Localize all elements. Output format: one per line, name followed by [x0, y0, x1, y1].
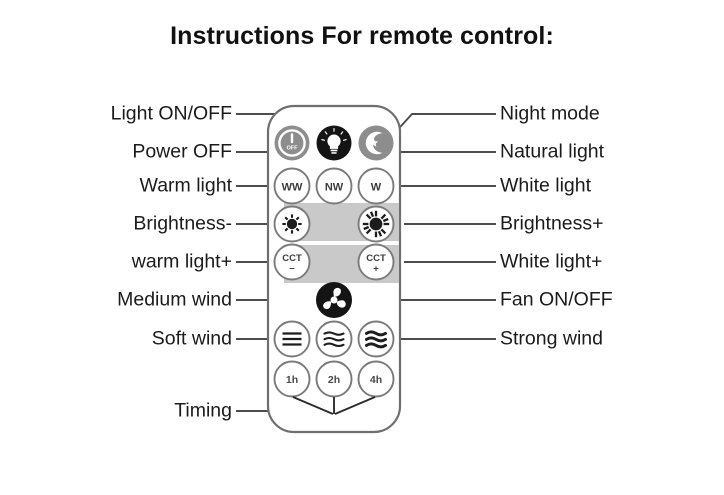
button-warm-light-text: WW: [282, 181, 303, 193]
svg-text:OFF: OFF: [287, 146, 298, 152]
callout-warm-light: Warm light: [140, 176, 232, 196]
button-timer-4h[interactable]: 4h: [359, 362, 394, 397]
button-natural-light[interactable]: NW: [317, 169, 352, 204]
button-natural-light-text: NW: [325, 181, 344, 193]
callout-warm-light-plus: warm light+: [132, 252, 232, 272]
button-brightness-up[interactable]: [359, 207, 394, 242]
button-white-light[interactable]: W: [359, 169, 394, 204]
callout-power-off: Power OFF: [132, 142, 232, 162]
button-timer-2h[interactable]: 2h: [317, 362, 352, 397]
button-strong-wind[interactable]: [359, 322, 394, 357]
callout-brightness-down: Brightness-: [133, 214, 232, 234]
diagram-canvas: Instructions For remote control:: [0, 0, 724, 495]
button-warm-light-plus[interactable]: CCT –: [275, 245, 310, 280]
button-timer-1h[interactable]: 1h: [275, 362, 310, 397]
callout-night-mode: Night mode: [500, 104, 600, 124]
button-white-light-plus-text: CCT: [366, 253, 386, 264]
callout-fan-on-off: Fan ON/OFF: [500, 290, 613, 310]
callout-light-on-off: Light ON/OFF: [111, 104, 232, 124]
sun-large-icon: [363, 211, 389, 237]
callout-white-light-plus: White light+: [500, 252, 602, 272]
button-timer-2h-text: 2h: [328, 374, 340, 386]
button-power-off[interactable]: OFF: [275, 126, 310, 161]
sun-small-icon: [282, 214, 301, 233]
callout-white-light: White light: [500, 176, 591, 196]
button-white-light-plus[interactable]: CCT +: [359, 245, 394, 280]
callout-strong-wind: Strong wind: [500, 329, 603, 349]
button-soft-wind[interactable]: [275, 322, 310, 357]
button-timer-1h-text: 1h: [286, 374, 298, 386]
callout-brightness-up: Brightness+: [500, 214, 604, 234]
button-timer-4h-text: 4h: [370, 374, 382, 386]
button-brightness-down[interactable]: [275, 207, 310, 242]
remote-diagram: OFF WW NW: [0, 0, 724, 495]
callout-timing: Timing: [174, 401, 232, 421]
button-warm-light-plus-sign: –: [289, 263, 294, 274]
button-white-light-plus-sign: +: [373, 264, 379, 275]
callout-medium-wind: Medium wind: [117, 290, 232, 310]
callout-natural-light: Natural light: [500, 142, 604, 162]
button-night-mode[interactable]: [359, 126, 394, 161]
button-light-on-off[interactable]: [317, 126, 352, 161]
callout-soft-wind: Soft wind: [152, 329, 232, 349]
button-medium-wind[interactable]: [317, 322, 352, 357]
button-warm-light[interactable]: WW: [275, 169, 310, 204]
leader-night-mode: [392, 114, 496, 136]
button-white-light-text: W: [371, 181, 382, 193]
button-fan-on-off[interactable]: [316, 282, 352, 318]
